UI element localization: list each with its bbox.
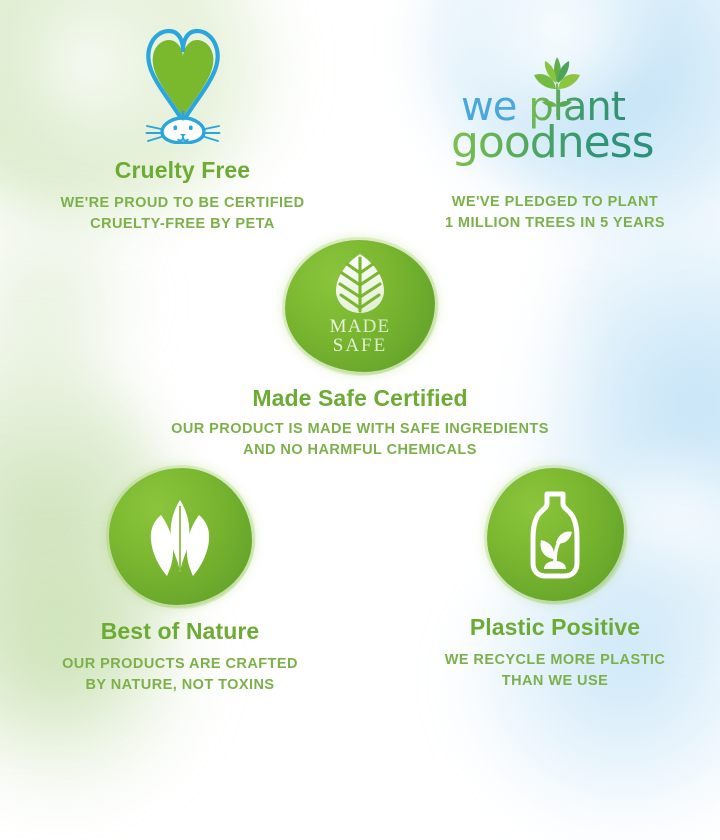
plastic-positive-heading: Plastic Positive <box>405 615 705 640</box>
we-plant-goodness-logo: weplant goodness <box>455 60 655 156</box>
cruelty-free-body: WE'RE PROUD TO BE CERTIFIED CRUELTY-FREE… <box>10 193 355 235</box>
logo-word-goodness: goodness <box>451 117 654 168</box>
best-of-nature-badge <box>109 468 252 605</box>
cruelty-free-heading: Cruelty Free <box>10 158 355 183</box>
bunny-heart-icon <box>127 22 239 144</box>
plastic-positive-body: WE RECYCLE MORE PLASTIC THAN WE USE <box>405 650 705 692</box>
best-of-nature-heading: Best of Nature <box>20 619 340 644</box>
we-plant-goodness-body: WE'VE PLEDGED TO PLANT 1 MILLION TREES I… <box>405 192 705 234</box>
made-safe-badge: MADE SAFE <box>285 240 435 372</box>
made-safe-heading: Made Safe Certified <box>70 386 650 411</box>
made-safe-badge-text: MADE SAFE <box>330 318 391 354</box>
plastic-positive-badge <box>487 468 624 601</box>
best-of-nature-body: OUR PRODUCTS ARE CRAFTED BY NATURE, NOT … <box>20 654 340 696</box>
bottle-sprout-icon <box>520 491 590 579</box>
block-we-plant-goodness: weplant goodness WE'VE PLEDGED TO PLANT … <box>405 60 705 234</box>
block-plastic-positive: Plastic Positive WE RECYCLE MORE PLASTIC… <box>405 468 705 692</box>
block-cruelty-free: Cruelty Free WE'RE PROUD TO BE CERTIFIED… <box>10 22 355 235</box>
made-safe-leaf-icon <box>334 253 386 315</box>
block-made-safe: MADE SAFE Made Safe Certified OUR PRODUC… <box>70 240 650 461</box>
made-safe-badge-line2: SAFE <box>330 337 391 355</box>
made-safe-body: OUR PRODUCT IS MADE WITH SAFE INGREDIENT… <box>70 419 650 461</box>
three-leaves-icon <box>140 496 220 578</box>
block-best-of-nature: Best of Nature OUR PRODUCTS ARE CRAFTED … <box>20 468 340 696</box>
logo-line-2: goodness <box>451 122 654 164</box>
